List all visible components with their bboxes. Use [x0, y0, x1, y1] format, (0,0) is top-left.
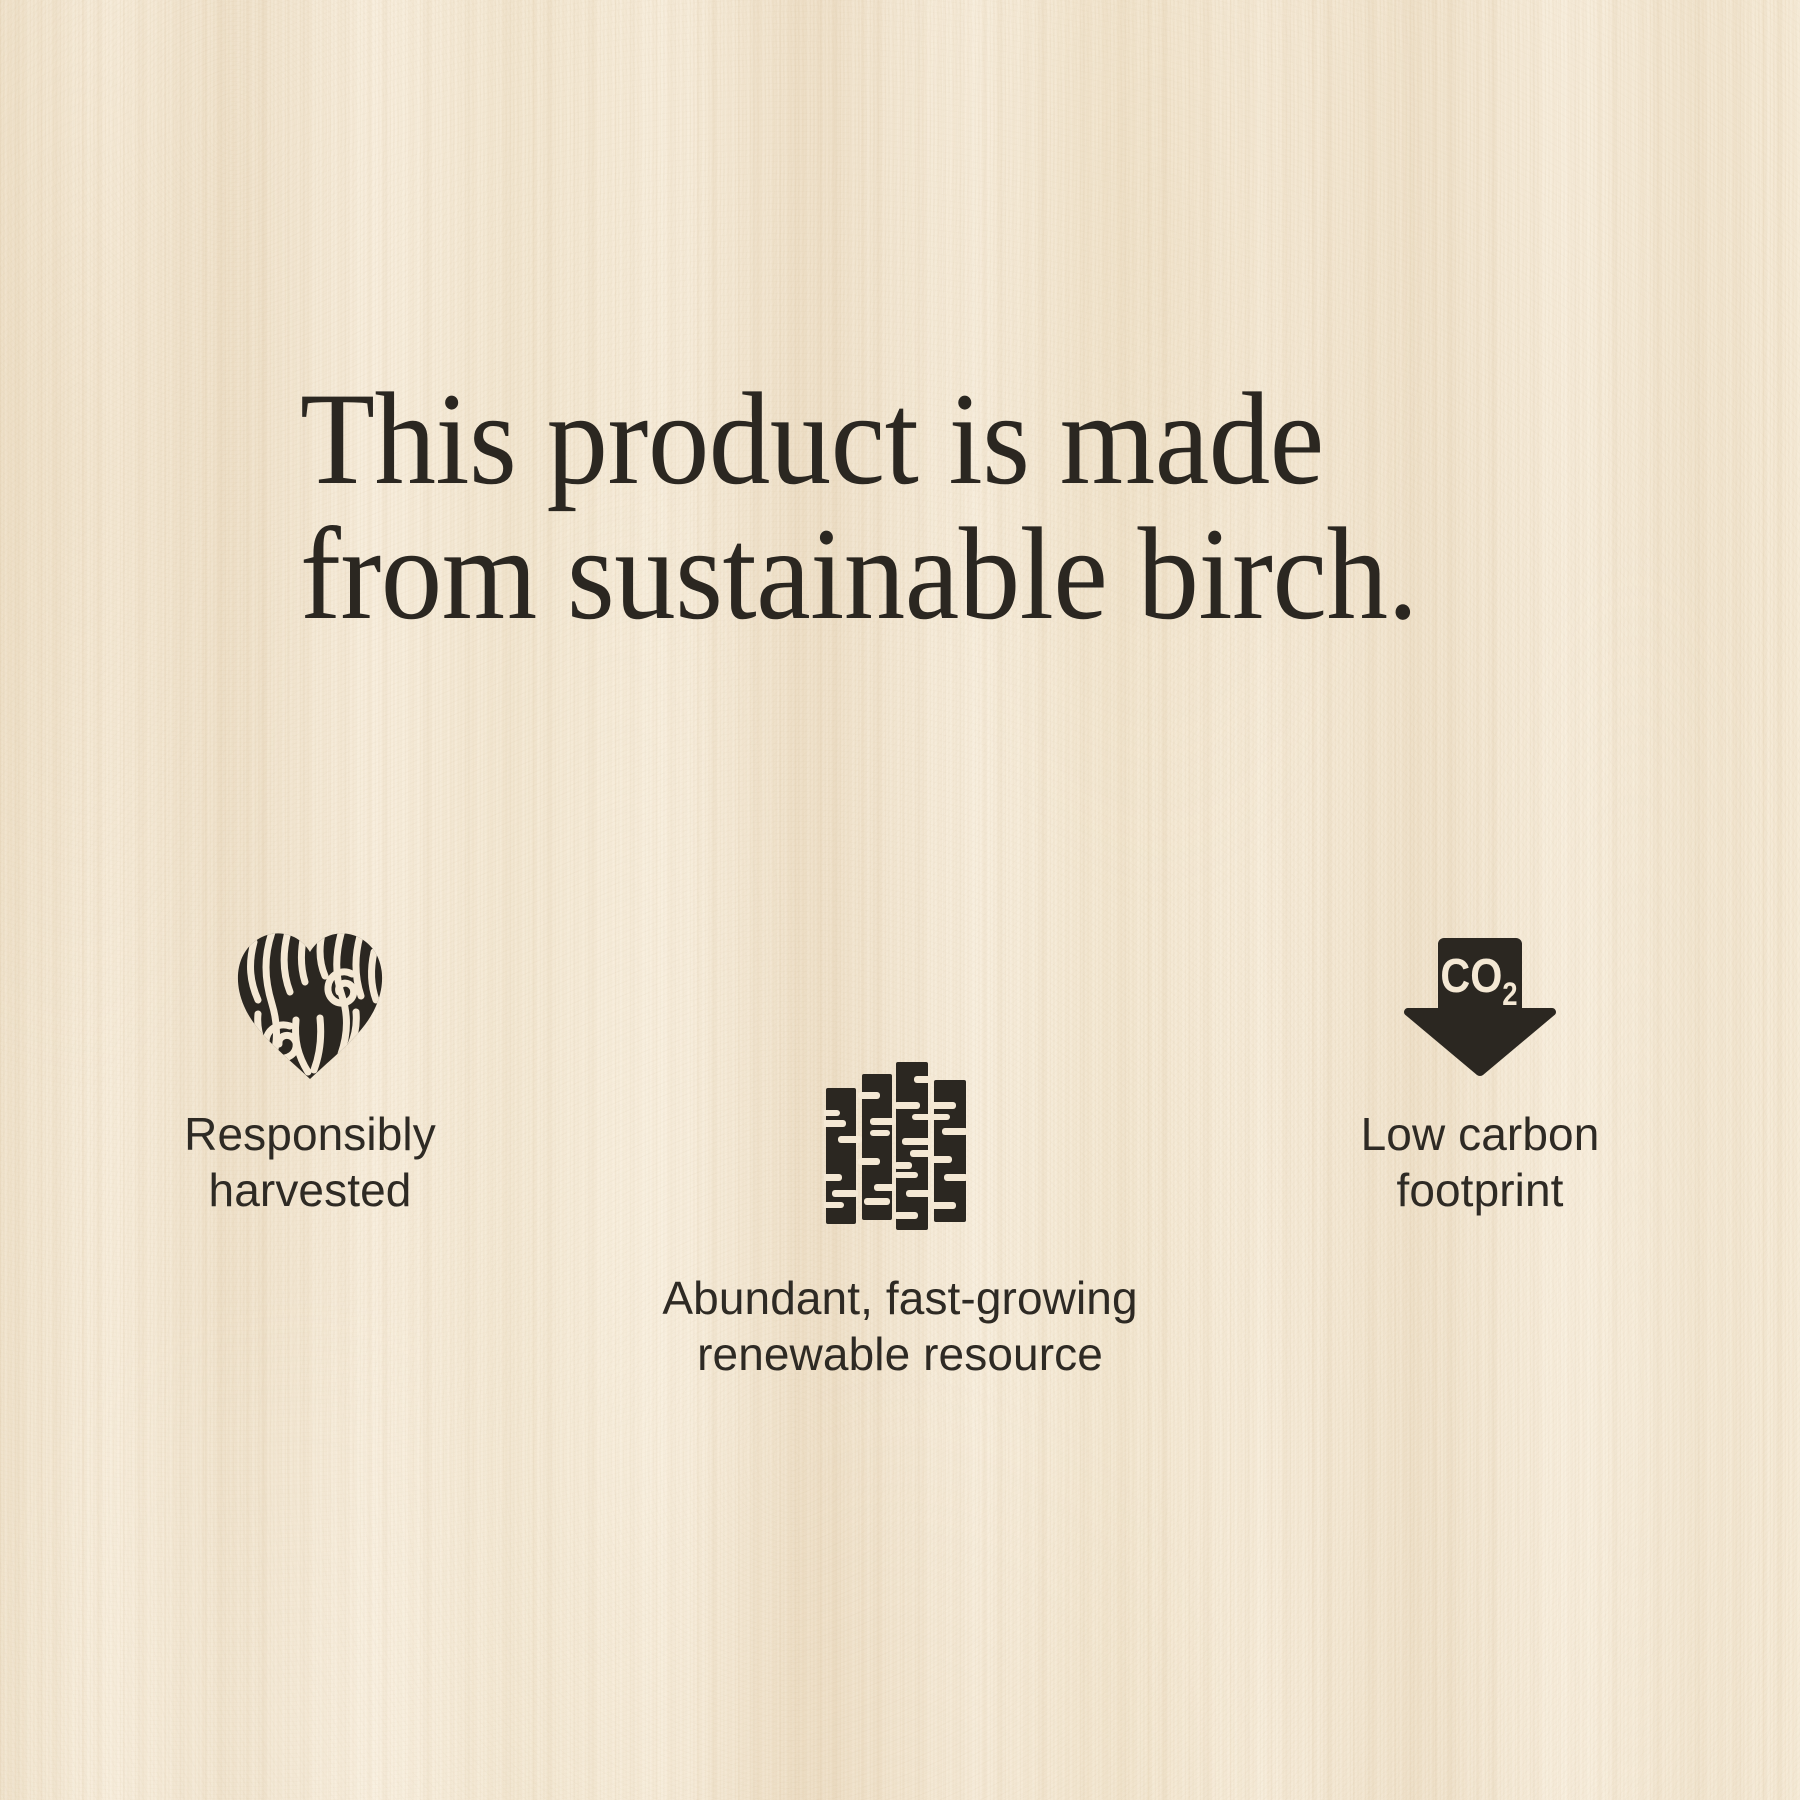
- caption-line-1: Responsibly: [110, 1106, 510, 1162]
- feature-renewable-resource: Abundant, fast-growing renewable resourc…: [640, 1060, 1160, 1382]
- feature-icon-wrap: CO2: [1280, 930, 1680, 1080]
- wood-grain-heart-icon: [234, 930, 386, 1080]
- headline-line-1: This product is made: [300, 372, 1453, 507]
- birch-trunks-icon: [824, 1062, 976, 1230]
- feature-responsibly-harvested: Responsibly harvested: [110, 920, 510, 1218]
- feature-caption: Low carbon footprint: [1280, 1106, 1680, 1218]
- feature-icon-wrap: [640, 1060, 1160, 1230]
- co2-down-arrow-icon: CO2: [1400, 934, 1560, 1080]
- caption-line-2: footprint: [1280, 1162, 1680, 1218]
- headline: This product is made from sustainable bi…: [300, 372, 1453, 641]
- feature-caption: Responsibly harvested: [110, 1106, 510, 1218]
- caption-line-1: Abundant, fast-growing: [640, 1270, 1160, 1326]
- caption-line-1: Low carbon: [1280, 1106, 1680, 1162]
- product-sustainability-card: This product is made from sustainable bi…: [0, 0, 1800, 1800]
- card-content: This product is made from sustainable bi…: [0, 0, 1800, 1800]
- caption-line-2: renewable resource: [640, 1326, 1160, 1382]
- feature-low-carbon-footprint: CO2 Low carbon footprint: [1280, 930, 1680, 1218]
- feature-icon-wrap: [110, 920, 510, 1080]
- feature-caption: Abundant, fast-growing renewable resourc…: [640, 1270, 1160, 1382]
- caption-line-2: harvested: [110, 1162, 510, 1218]
- headline-line-2: from sustainable birch.: [300, 507, 1453, 642]
